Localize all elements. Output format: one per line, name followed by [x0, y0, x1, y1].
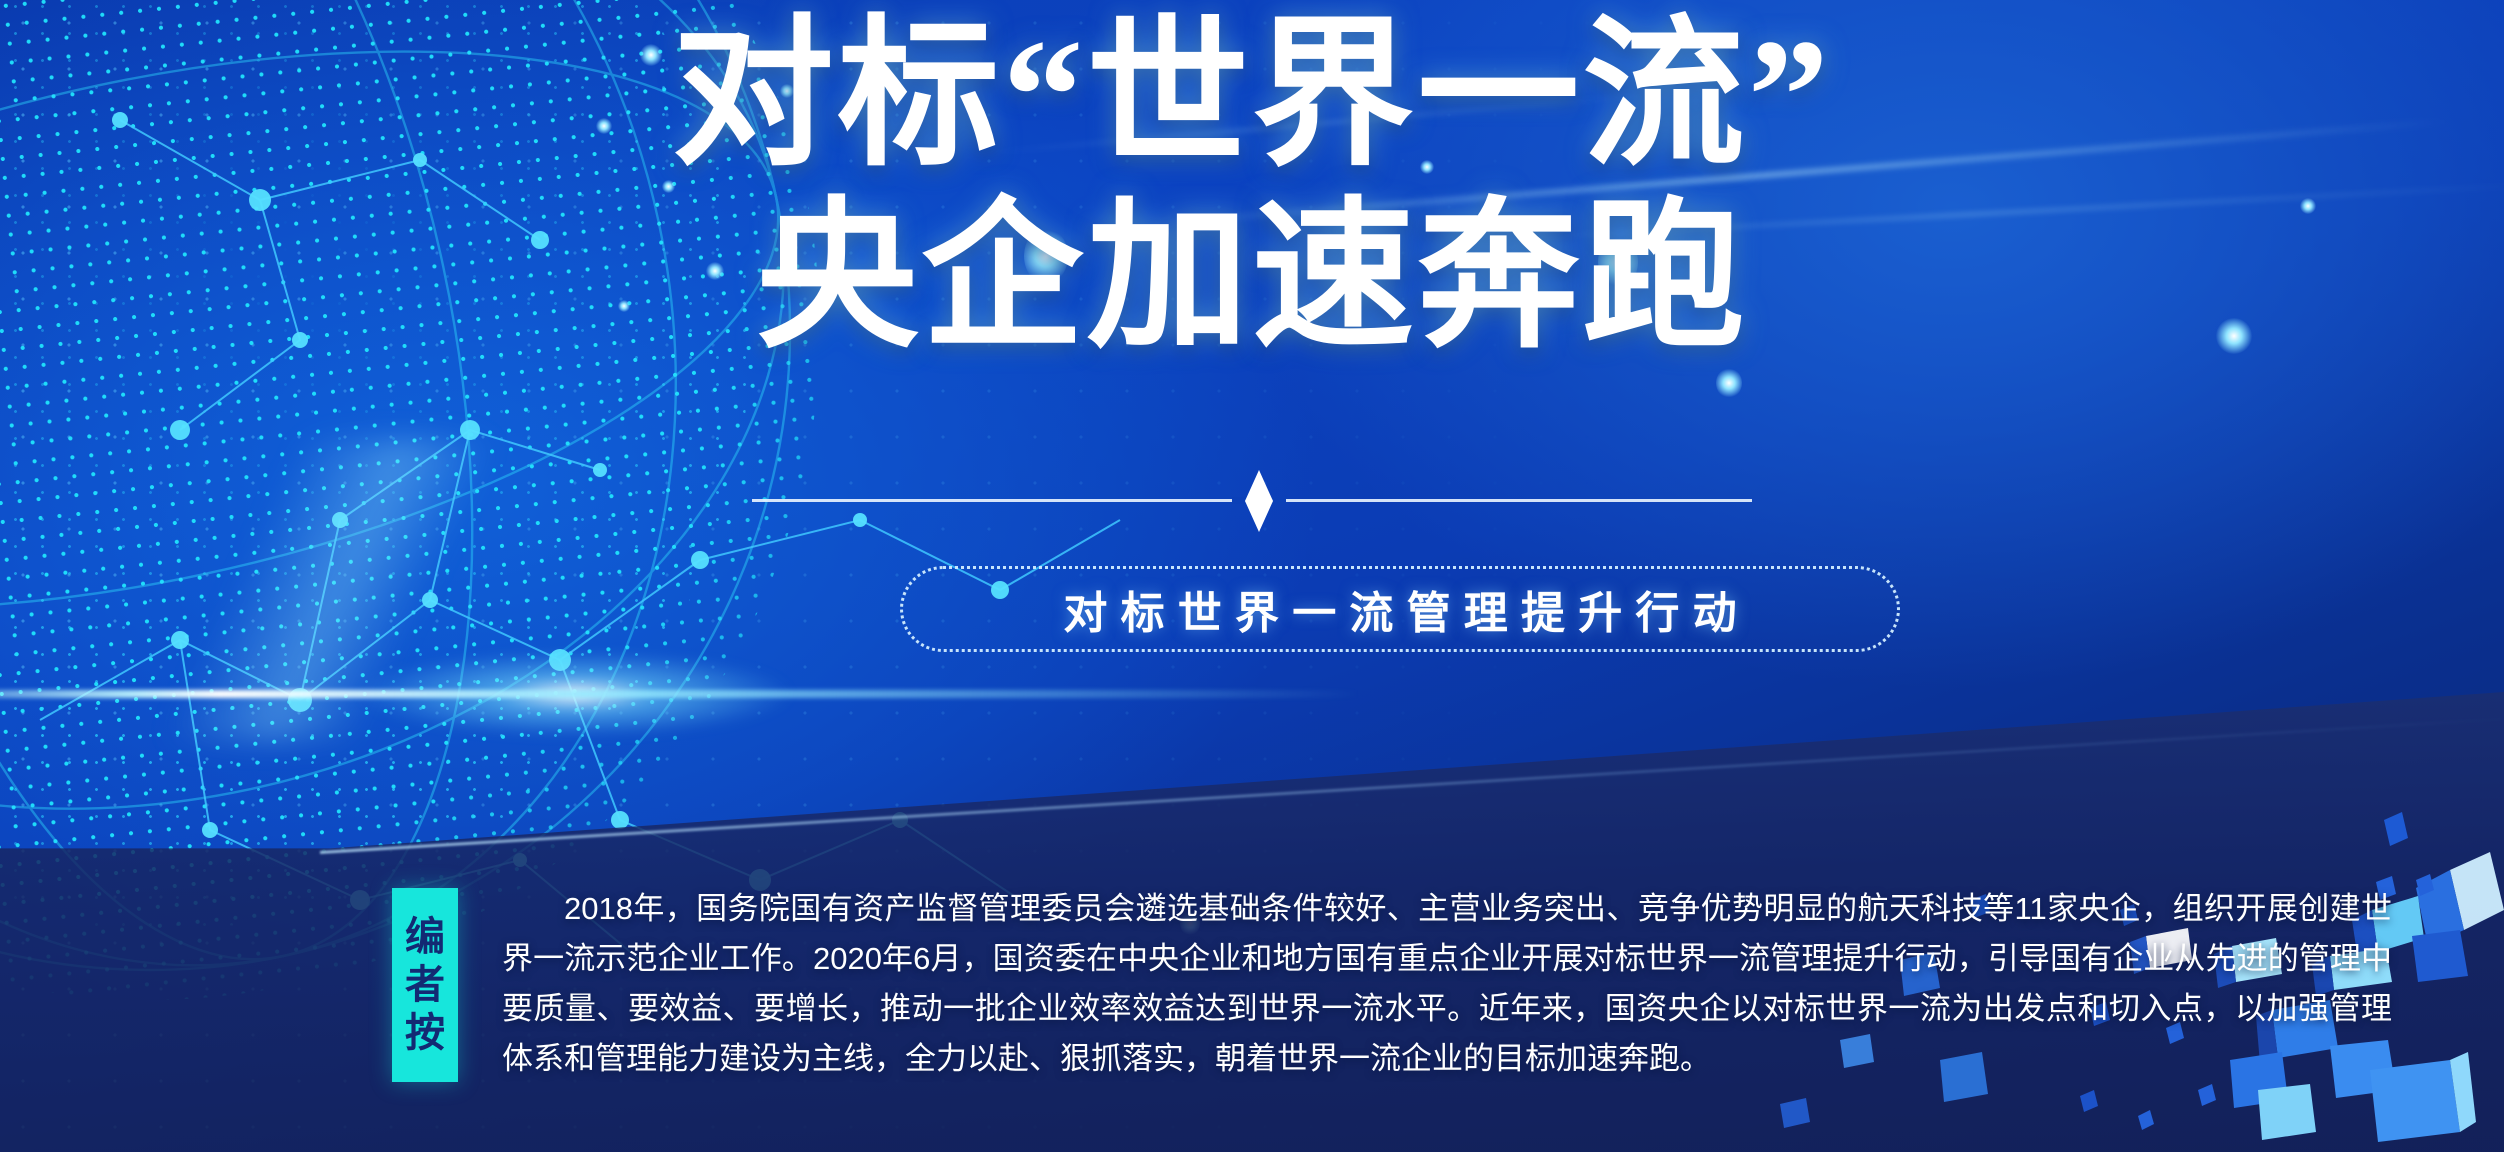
editor-note-badge: 编 者 按 — [392, 888, 458, 1082]
editor-note-badge-char-3: 按 — [405, 1012, 445, 1054]
ground-plane-edge — [320, 717, 2504, 854]
subtitle-badge-label: 对标世界一流管理提升行动 — [903, 569, 1897, 649]
editor-note: 编 者 按 2018年，国务院国有资产监督管理委员会遴选基础条件较好、主营业务突… — [392, 884, 2392, 1104]
diamond-icon — [1245, 470, 1273, 532]
editor-note-badge-char-2: 者 — [405, 964, 445, 1006]
headline-block: 对标“世界一流” 央企加速奔跑 对标世界一流管理提升行动 — [0, 0, 2504, 720]
editor-note-badge-char-1: 编 — [405, 916, 445, 958]
page-title-line-1: 对标“世界一流” — [0, 14, 2504, 179]
subtitle-badge: 对标世界一流管理提升行动 — [900, 566, 1900, 652]
hero-banner: 对标“世界一流” 央企加速奔跑 对标世界一流管理提升行动 编 者 按 2018年… — [0, 0, 2504, 1152]
page-title-line-2: 央企加速奔跑 — [0, 196, 2504, 361]
diamond-divider — [752, 480, 1752, 520]
editor-note-paragraph: 2018年，国务院国有资产监督管理委员会遴选基础条件较好、主营业务突出、竞争优势… — [502, 884, 2392, 1084]
